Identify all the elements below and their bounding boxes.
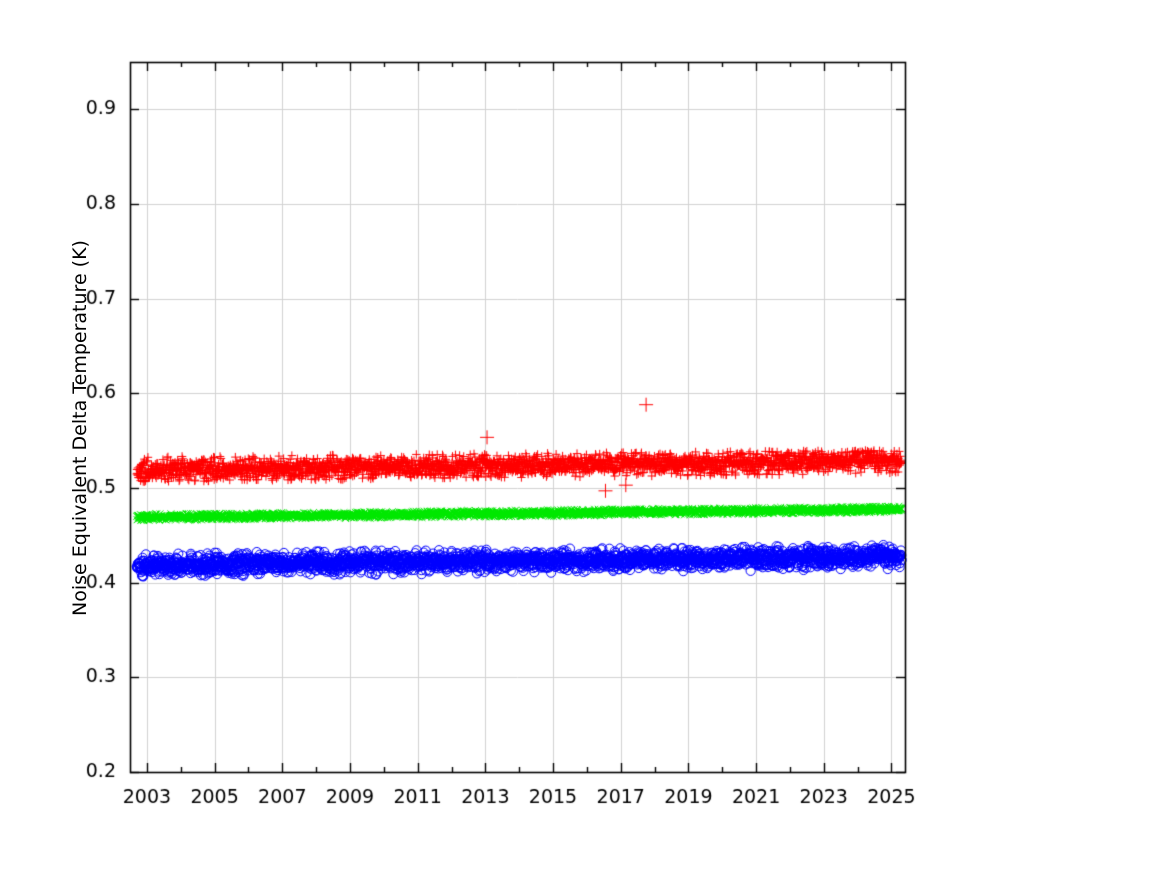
scatter-plot-canvas (0, 0, 1167, 875)
y-axis-title: Noise Equivalent Delta Temperature (K) (69, 148, 91, 708)
